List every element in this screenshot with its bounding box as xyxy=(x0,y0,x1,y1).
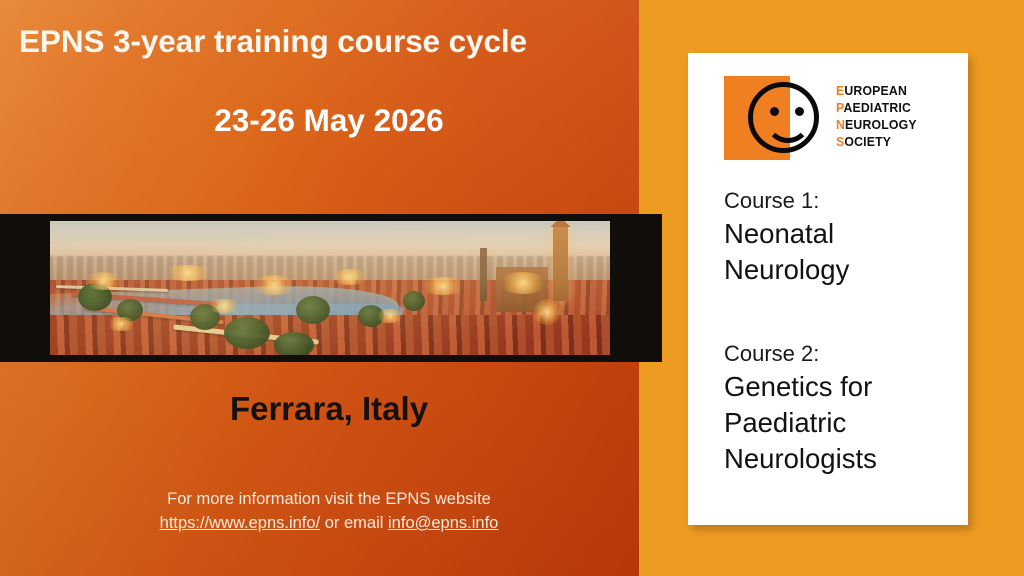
course-2-name: Genetics for Paediatric Neurologists xyxy=(724,369,944,476)
course-1-name-line-1: Neonatal xyxy=(724,216,944,252)
footer-line-1: For more information visit the EPNS webs… xyxy=(19,488,639,512)
logo-rest-neurology: EUROLOGY xyxy=(845,117,917,132)
logo-initial-p: P xyxy=(836,100,843,115)
course-1-label: Course 1: xyxy=(724,185,944,216)
smiley-face-icon xyxy=(748,82,819,153)
logo-initial-n: N xyxy=(836,117,845,132)
logo-initial-e: E xyxy=(836,83,844,98)
logo-rest-paediatric: AEDIATRIC xyxy=(843,100,911,115)
epns-logo: EUROPEAN PAEDIATRIC NEUROLOGY SOCIETY xyxy=(724,76,939,168)
course-2-name-line-1: Genetics for xyxy=(724,369,944,405)
logo-initial-s: S xyxy=(836,134,844,149)
logo-rest-european: UROPEAN xyxy=(844,83,907,98)
photo-warm-overlay xyxy=(50,221,610,355)
logo-word-paediatric: PAEDIATRIC xyxy=(836,99,917,116)
logo-word-european: EUROPEAN xyxy=(836,82,917,99)
epns-email-link[interactable]: info@epns.info xyxy=(388,514,498,532)
logo-word-neurology: NEUROLOGY xyxy=(836,116,917,133)
logo-word-society: SOCIETY xyxy=(836,133,917,150)
course-2-name-line-3: Neurologists xyxy=(724,441,944,477)
headline-title: EPNS 3-year training course cycle xyxy=(19,24,659,59)
slide-canvas: EPNS 3-year training course cycle 23-26 … xyxy=(0,0,1024,576)
course-1-name: Neonatal Neurology xyxy=(724,216,944,288)
footer-info: For more information visit the EPNS webs… xyxy=(19,488,639,536)
course-1-name-line-2: Neurology xyxy=(724,252,944,288)
city-caption: Ferrara, Italy xyxy=(19,390,639,428)
course-2-label: Course 2: xyxy=(724,338,944,369)
event-dates: 23-26 May 2026 xyxy=(19,103,639,138)
epns-website-link[interactable]: https://www.epns.info/ xyxy=(160,514,321,532)
course-1-block: Course 1: Neonatal Neurology xyxy=(724,185,944,288)
course-2-name-line-2: Paediatric xyxy=(724,405,944,441)
footer-connector: or email xyxy=(320,514,388,532)
footer-line-2: https://www.epns.info/ or email info@epn… xyxy=(19,512,639,536)
logo-rest-society: OCIETY xyxy=(844,134,891,149)
course-card: EUROPEAN PAEDIATRIC NEUROLOGY SOCIETY Co… xyxy=(688,53,968,525)
city-photo xyxy=(50,221,610,355)
logo-wordmark: EUROPEAN PAEDIATRIC NEUROLOGY SOCIETY xyxy=(836,82,917,151)
course-2-block: Course 2: Genetics for Paediatric Neurol… xyxy=(724,338,944,476)
smiley-mouth xyxy=(765,113,811,143)
